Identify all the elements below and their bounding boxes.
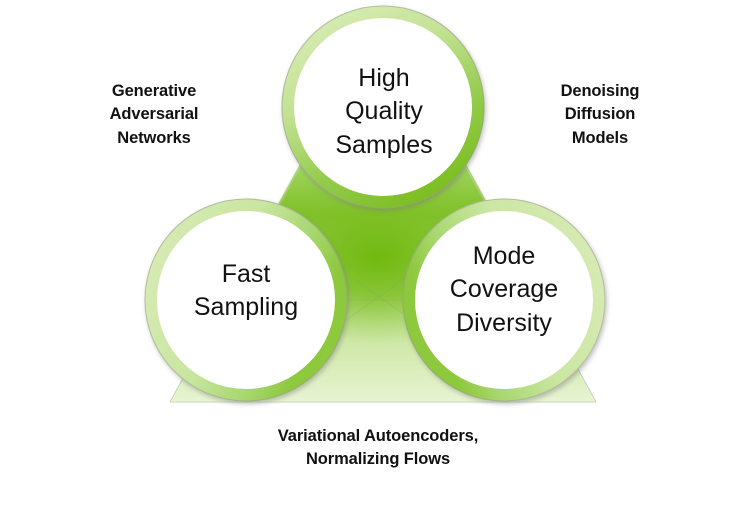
label-fast-sampling: Fast Sampling: [155, 258, 337, 325]
label-denoising-diffusion-models: Denoising Diffusion Models: [520, 80, 680, 150]
label-generative-adversarial-networks: Generative Adversarial Networks: [74, 80, 234, 150]
diagram-canvas: Generative Adversarial Networks Denoisin…: [0, 0, 756, 519]
label-mode-coverage-diversity: Mode Coverage Diversity: [413, 240, 595, 340]
label-variational-autoencoders-normalizing-flows: Variational Autoencoders, Normalizing Fl…: [228, 425, 528, 472]
label-high-quality-samples: High Quality Samples: [293, 62, 475, 162]
